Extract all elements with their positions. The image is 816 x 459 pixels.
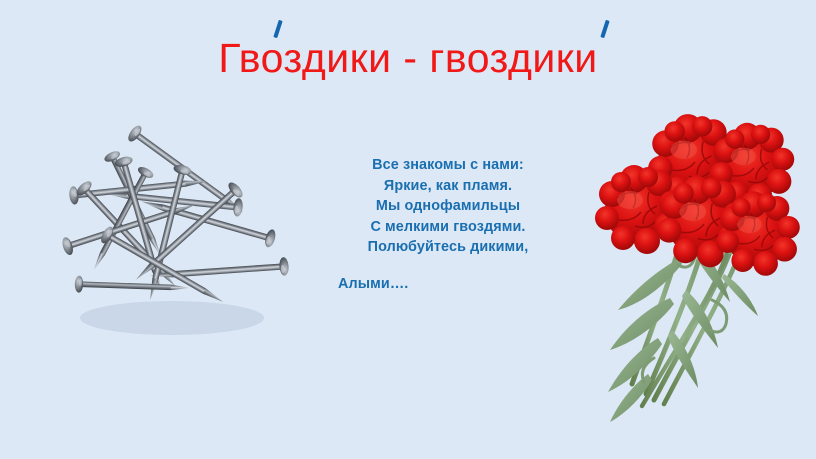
slide-canvas: Гвоздики - гвоздики <box>0 0 816 459</box>
poem-line-1: Все знакомы с нами: <box>330 155 566 176</box>
poem-line-3: Мы однофамильцы <box>330 196 566 217</box>
nails-illustration <box>44 112 300 344</box>
nails-image <box>44 112 300 344</box>
poem-line-4: С мелкими гвоздями. <box>330 217 566 238</box>
page-title-label: Гвоздики - гвоздики <box>218 35 597 81</box>
acute-accent-icon-second <box>601 20 610 38</box>
poem-last-line: Алыми…. <box>330 274 566 295</box>
poem-text: Все знакомы с нами: Яркие, как пламя. Мы… <box>330 155 566 295</box>
poem-line-2: Яркие, как пламя. <box>330 176 566 197</box>
carnations-illustration <box>592 112 800 442</box>
slide-title: Гвоздики - гвоздики <box>0 36 816 82</box>
poem-line-5: Полюбуйтесь дикими, <box>330 237 566 258</box>
carnations-image <box>592 112 800 442</box>
page-title: Гвоздики - гвоздики <box>218 36 597 82</box>
